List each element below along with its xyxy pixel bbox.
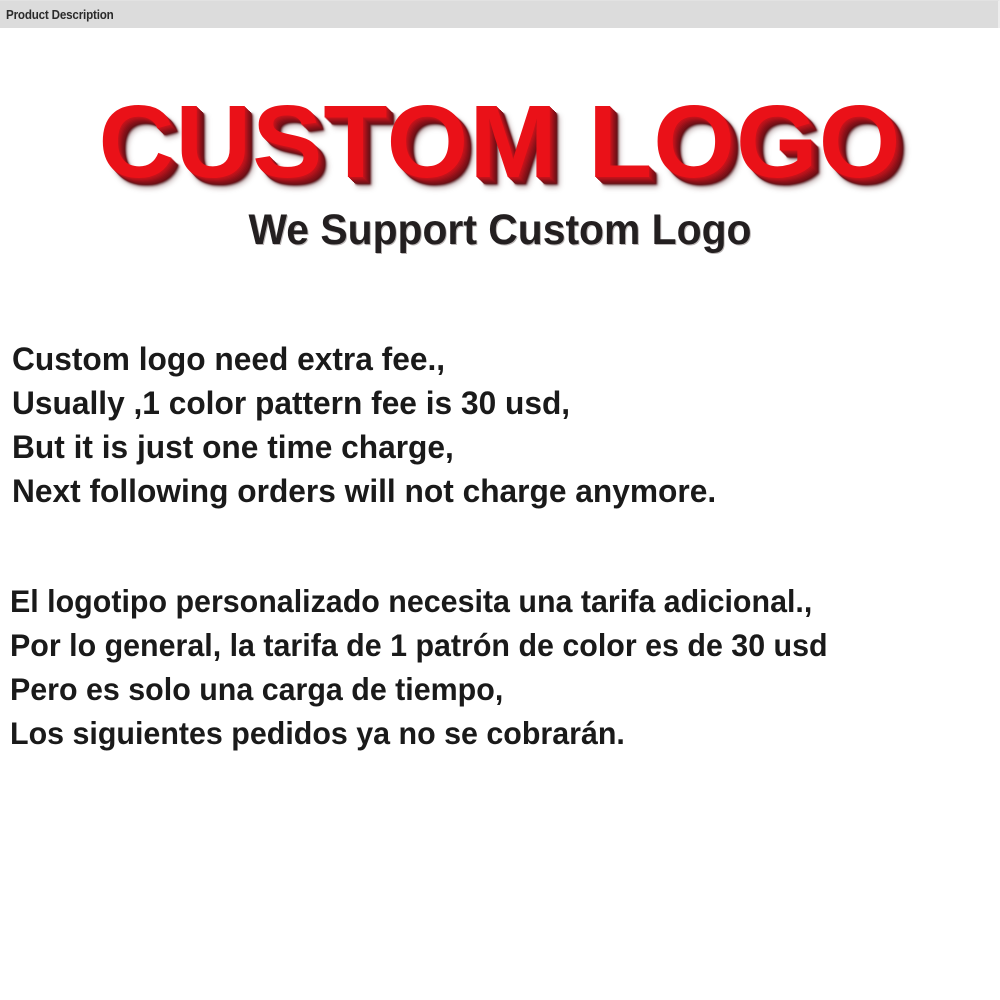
spanish-copy-block: El logotipo personalizado necesita una t… — [10, 579, 857, 755]
spanish-line-2: Por lo general, la tarifa de 1 patrón de… — [10, 623, 828, 667]
english-line-4: Next following orders will not charge an… — [12, 469, 716, 513]
description-content: CUSTOM LOGO We Support Custom Logo Custo… — [0, 28, 1000, 1000]
english-line-3: But it is just one time charge, — [12, 425, 716, 469]
tab-product-description-label: Product Description — [6, 8, 114, 22]
custom-logo-banner: CUSTOM LOGO We Support Custom Logo — [0, 28, 1000, 263]
english-line-1: Custom logo need extra fee., — [12, 337, 716, 381]
banner-subtitle: We Support Custom Logo — [25, 206, 975, 254]
banner-title: CUSTOM LOGO — [0, 90, 1000, 193]
product-description-page: Product Description CUSTOM LOGO We Suppo… — [0, 0, 1000, 1000]
english-line-2: Usually ,1 color pattern fee is 30 usd, — [12, 381, 716, 425]
spanish-line-3: Pero es solo una carga de tiempo, — [10, 667, 828, 711]
spanish-line-1: El logotipo personalizado necesita una t… — [10, 579, 828, 623]
tab-bar: Product Description — [0, 0, 1000, 28]
tab-product-description[interactable]: Product Description — [0, 1, 136, 29]
spanish-line-4: Los siguientes pedidos ya no se cobrarán… — [10, 711, 828, 755]
english-copy-block: Custom logo need extra fee., Usually ,1 … — [12, 337, 723, 513]
